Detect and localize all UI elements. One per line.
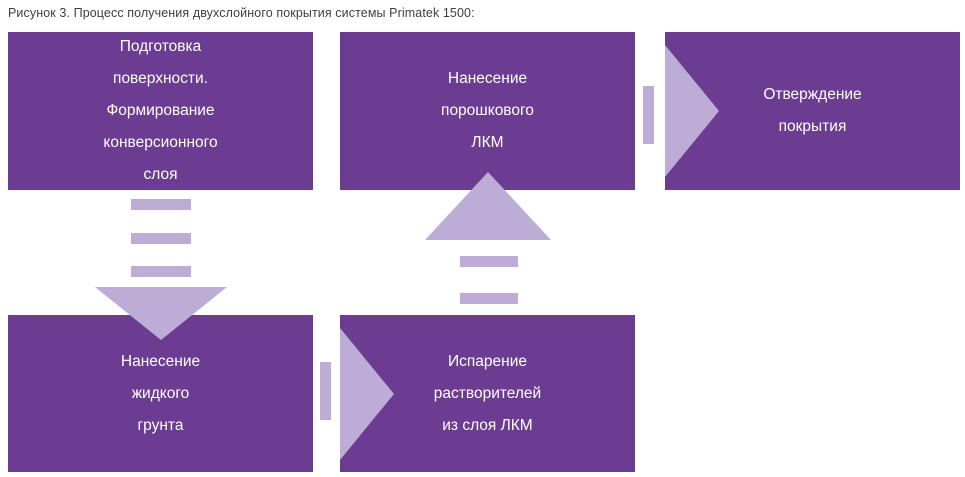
arrow-right-icon [340,328,394,460]
arrow-segment [643,86,654,144]
process-node-powder-coating: Нанесение порошкового ЛКМ [340,32,635,190]
arrow-segment [131,266,191,277]
process-node-label: Испарение растворителей из слоя ЛКМ [420,346,555,442]
process-node-label: Нанесение жидкого грунта [107,346,214,442]
arrow-segment [460,256,518,267]
process-node-label: Нанесение порошкового ЛКМ [427,63,548,159]
figure-caption: Рисунок 3. Процесс получения двухслойног… [8,6,475,20]
process-flow-diagram: Рисунок 3. Процесс получения двухслойног… [0,0,965,477]
process-node-label: Подготовка поверхности. Формирование кон… [89,32,231,190]
process-node-surface-preparation: Подготовка поверхности. Формирование кон… [8,32,313,190]
process-node-label: Отверждение покрытия [749,79,875,143]
arrow-right-icon [665,45,719,177]
arrow-segment [131,233,191,244]
arrow-segment [131,199,191,210]
arrow-down-icon [95,287,227,340]
arrow-segment [460,293,518,304]
arrow-segment [320,362,331,420]
arrow-up-icon [425,172,551,240]
